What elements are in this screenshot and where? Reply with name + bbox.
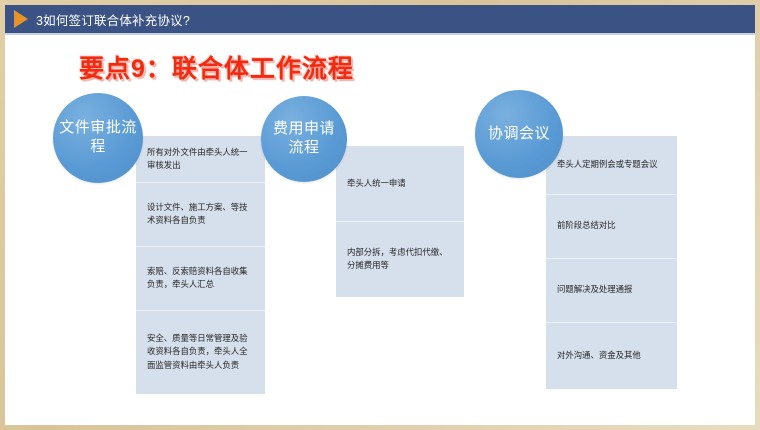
- flow-item: 索赔、反索赔资料各自收集负责，牵头人汇总: [136, 246, 265, 310]
- header-underline: [5, 33, 755, 35]
- flow-circle-1: 文件审批流程: [53, 93, 143, 183]
- flow-panel-2: 牵头人统一申请 内部分拆，考虑代扣代缴、分摊费用等: [336, 146, 464, 297]
- flow-item: 所有对外文件由牵头人统一审核发出: [136, 136, 265, 182]
- flow-panel-1: 所有对外文件由牵头人统一审核发出 设计文件、施工方案、等技术资料各自负责 索赔、…: [136, 136, 265, 394]
- flow-circle-label: 文件审批流程: [53, 119, 143, 157]
- triangle-right-icon: [14, 10, 28, 28]
- flow-circle-label: 协调会议: [482, 125, 556, 144]
- flow-item: 牵头人统一申请: [336, 146, 464, 221]
- flow-circle-label: 费用申请流程: [261, 120, 347, 158]
- flow-panel-3: 牵头人定期例会或专题会议 前阶段总结对比 问题解决及处理通报 对外沟通、资金及其…: [546, 136, 677, 389]
- flow-circle-3: 协调会议: [475, 90, 563, 178]
- flow-item: 问题解决及处理通报: [546, 258, 677, 322]
- flow-circle-2: 费用申请流程: [261, 96, 347, 182]
- flow-item: 对外沟通、资金及其他: [546, 322, 677, 389]
- header-title: 3如何签订联合体补充协议?: [36, 10, 190, 29]
- page-title: 要点9：联合体工作流程: [79, 49, 354, 85]
- flow-item: 牵头人定期例会或专题会议: [546, 136, 677, 194]
- flow-item: 安全、质量等日常管理及验收资料各自负责，牵头人全面监管资料由牵头人负责: [136, 310, 265, 394]
- slide-header-bar: 3如何签订联合体补充协议?: [5, 5, 755, 33]
- slide-frame: 3如何签订联合体补充协议? 要点9：联合体工作流程 所有对外文件由牵头人统一审核…: [0, 0, 760, 430]
- slide-canvas: 3如何签订联合体补充协议? 要点9：联合体工作流程 所有对外文件由牵头人统一审核…: [5, 5, 755, 425]
- flow-item: 前阶段总结对比: [546, 194, 677, 258]
- flow-item: 内部分拆，考虑代扣代缴、分摊费用等: [336, 221, 464, 297]
- flow-item: 设计文件、施工方案、等技术资料各自负责: [136, 182, 265, 246]
